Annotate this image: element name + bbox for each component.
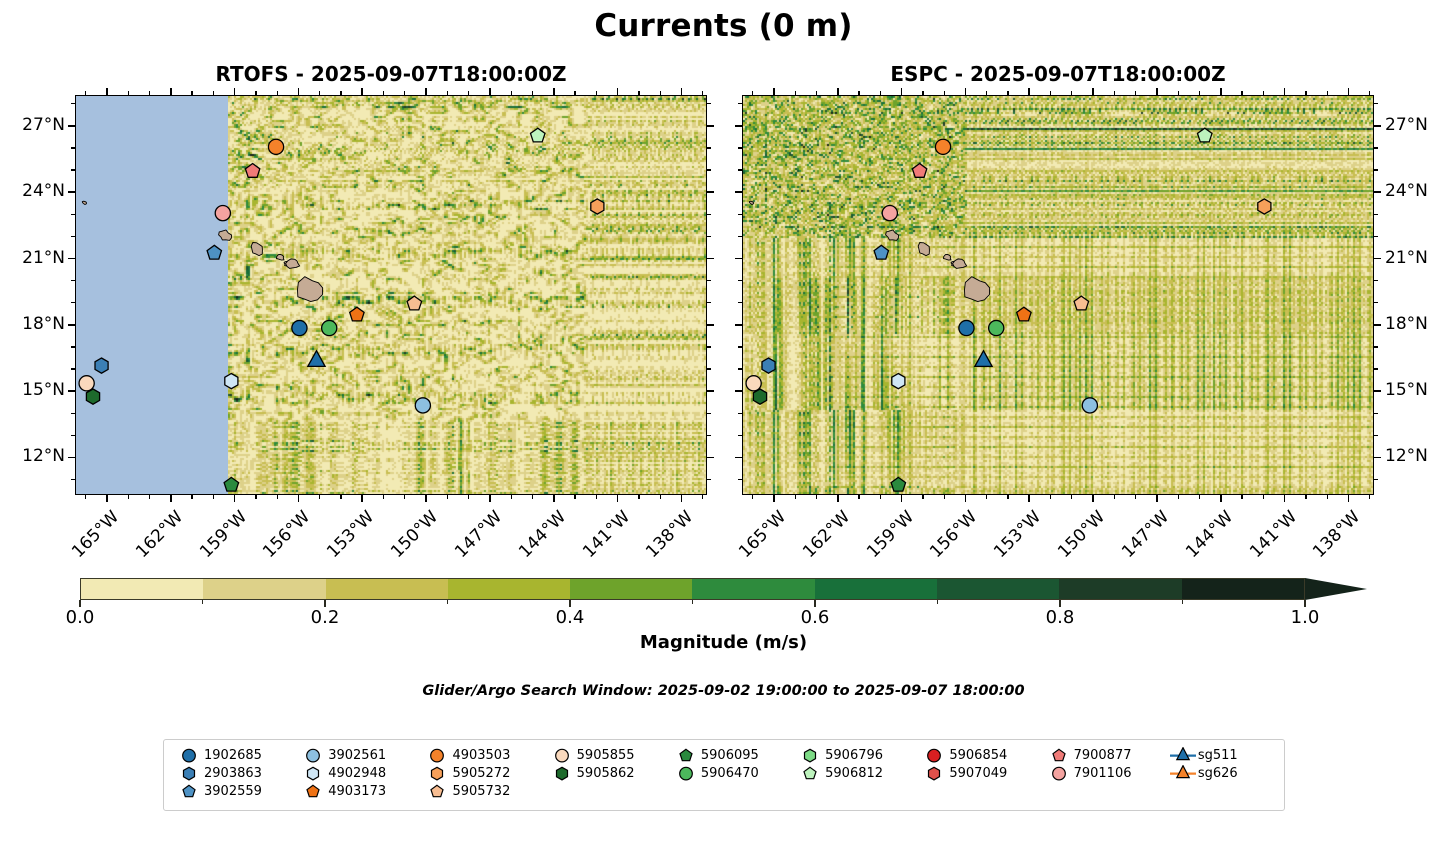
ytick-label: 24°N (1385, 181, 1447, 201)
triangle-line-marker-icon (1168, 765, 1198, 782)
xtick-minor (255, 495, 256, 499)
legend-item-4903503[interactable]: 4903503 (422, 747, 546, 764)
xtick-minor (880, 495, 881, 499)
marker-4902948[interactable] (225, 374, 238, 389)
xtick-minor (85, 91, 86, 95)
xtick-minor (128, 91, 129, 95)
ytick-label: 21°N (1385, 248, 1447, 268)
legend-label: 4902948 (328, 766, 386, 781)
xtick-minor (1305, 91, 1306, 95)
marker-7901106[interactable] (215, 206, 230, 221)
ytick-minor (738, 280, 742, 281)
marker-3902561[interactable] (1082, 398, 1097, 413)
legend-marker (1168, 747, 1198, 764)
pentagon-marker-icon (174, 783, 204, 800)
ytick-minor (71, 302, 75, 303)
marker-7901106[interactable] (882, 206, 897, 221)
legend-marker (671, 747, 701, 764)
xtick-minor (383, 495, 384, 499)
colorbar-extend-arrow (1305, 578, 1367, 600)
xtick-major (170, 495, 172, 502)
xtick-label: 144°W (1178, 507, 1237, 566)
ytick-minor (707, 147, 711, 148)
colorbar-band-6 (815, 579, 937, 599)
ytick-label: 12°N (1385, 446, 1447, 466)
ytick-label: 12°N (7, 446, 65, 466)
xtick-minor (340, 91, 341, 95)
circle-marker-icon (671, 765, 701, 782)
colorbar-tick (79, 600, 80, 607)
colorbar-band-5 (692, 579, 814, 599)
colorbar-band-1 (203, 579, 325, 599)
xtick-minor (213, 495, 214, 499)
xtick-minor (1327, 91, 1328, 95)
colorbar-label: Magnitude (m/s) (80, 632, 1367, 653)
legend-marker (174, 747, 204, 764)
xtick-major (1348, 495, 1350, 502)
xtick-major (1028, 495, 1030, 502)
xtick-label: 144°W (511, 507, 570, 566)
colorbar-tick-label: 1.0 (1291, 607, 1320, 628)
xtick-minor (795, 91, 796, 95)
xtick-label: 165°W (731, 507, 790, 566)
xtick-label: 159°W (858, 507, 917, 566)
xtick-label: 141°W (574, 507, 633, 566)
marker-sg511[interactable] (975, 351, 992, 367)
xtick-minor (532, 495, 533, 499)
xtick-minor (191, 91, 192, 95)
xtick-major (234, 495, 236, 502)
marker-5905272[interactable] (591, 199, 604, 214)
xtick-minor (702, 91, 703, 95)
legend-item-5905862[interactable]: 5905862 (547, 765, 671, 782)
ytick-minor (1374, 479, 1378, 480)
legend-marker (422, 783, 452, 800)
legend-marker (174, 783, 204, 800)
xtick-minor (149, 91, 150, 95)
marker-4903503[interactable] (268, 139, 283, 154)
marker-4902948[interactable] (892, 374, 905, 389)
xtick-minor (1007, 495, 1008, 499)
ytick-minor (1374, 147, 1378, 148)
xtick-major (298, 88, 300, 95)
xtick-major (298, 495, 300, 502)
ytick-label: 18°N (1385, 314, 1447, 334)
colorbar-band-8 (1059, 579, 1181, 599)
xtick-major (773, 88, 775, 95)
colorbar-tick (814, 600, 815, 607)
ytick-minor (1374, 280, 1378, 281)
marker-2903863[interactable] (95, 358, 108, 373)
legend-label: 3902561 (328, 748, 386, 763)
ytick-minor (71, 368, 75, 369)
legend-item-5906095[interactable]: 5906095 (671, 747, 795, 764)
legend-item-5905855[interactable]: 5905855 (547, 747, 671, 764)
ytick-minor (707, 236, 711, 237)
colorbar-band-2 (326, 579, 448, 599)
xtick-label: 156°W (255, 507, 314, 566)
legend-marker (671, 765, 701, 782)
marker-1902685[interactable] (292, 320, 307, 335)
xtick-minor (858, 91, 859, 95)
ytick-minor (71, 236, 75, 237)
xtick-minor (1369, 91, 1370, 95)
xtick-label: 150°W (1050, 507, 1109, 566)
map-panel-rtofs[interactable] (75, 95, 707, 495)
circle-marker-icon (547, 747, 577, 764)
colorbar-band-9 (1182, 579, 1304, 599)
ytick-major (68, 390, 75, 392)
ytick-major (707, 390, 714, 392)
ytick-minor (707, 346, 711, 347)
marker-5905732[interactable] (1074, 296, 1089, 310)
marker-3902559[interactable] (874, 245, 888, 259)
legend-marker (422, 747, 452, 764)
legend-item-5907049[interactable]: 5907049 (919, 765, 1043, 782)
ytick-major (1374, 258, 1381, 260)
hexagon-marker-icon (174, 765, 204, 782)
ytick-major (68, 258, 75, 260)
legend[interactable]: 1902685290386339025593902561490294849031… (163, 739, 1285, 811)
xtick-label: 150°W (383, 507, 442, 566)
xtick-major (773, 495, 775, 502)
triangle-line-marker-icon (1168, 747, 1198, 764)
ytick-minor (707, 413, 711, 414)
map-panel-espc[interactable] (742, 95, 1374, 495)
xtick-minor (277, 495, 278, 499)
legend-label: 5906470 (701, 766, 759, 781)
legend-label: 5907049 (949, 766, 1007, 781)
xtick-major (425, 495, 427, 502)
colorbar-tick-label: 0.4 (556, 607, 585, 628)
marker-7900877[interactable] (245, 164, 259, 178)
ytick-major (707, 324, 714, 326)
xtick-label: 138°W (1305, 507, 1364, 566)
legend-label: 7901106 (1074, 766, 1132, 781)
legend-marker (174, 765, 204, 782)
ytick-minor (738, 302, 742, 303)
marker-5905855[interactable] (746, 376, 761, 391)
xtick-minor (1071, 91, 1072, 95)
xtick-major (1156, 495, 1158, 502)
ytick-minor (1374, 236, 1378, 237)
legend-item-sg626[interactable]: sg626 (1168, 765, 1274, 782)
marker-5905855[interactable] (79, 376, 94, 391)
legend-marker (298, 765, 328, 782)
ytick-minor (707, 368, 711, 369)
ytick-minor (71, 413, 75, 414)
ytick-minor (71, 147, 75, 148)
xtick-minor (1263, 495, 1264, 499)
legend-label: 1902685 (204, 748, 262, 763)
xtick-minor (574, 91, 575, 95)
xtick-minor (1071, 495, 1072, 499)
xtick-minor (1114, 91, 1115, 95)
xtick-minor (532, 91, 533, 95)
xtick-minor (1050, 91, 1051, 95)
xtick-major (1284, 88, 1286, 95)
legend-label: 5906796 (825, 748, 883, 763)
legend-marker (422, 765, 452, 782)
xtick-major (681, 88, 683, 95)
legend-marker (1044, 747, 1074, 764)
xtick-minor (858, 495, 859, 499)
marker-4903173[interactable] (350, 307, 364, 321)
xtick-minor (1178, 495, 1179, 499)
xtick-major (965, 495, 967, 502)
legend-item-5906470[interactable]: 5906470 (671, 765, 795, 782)
xtick-major (425, 88, 427, 95)
legend-item-4903173[interactable]: 4903173 (298, 783, 422, 800)
ytick-major (707, 258, 714, 260)
ytick-minor (707, 169, 711, 170)
legend-marker (547, 747, 577, 764)
xtick-label: 153°W (986, 507, 1045, 566)
ytick-minor (71, 346, 75, 347)
legend-item-2903863[interactable]: 2903863 (174, 765, 298, 782)
xtick-label: 138°W (638, 507, 697, 566)
ytick-minor (71, 435, 75, 436)
xtick-major (681, 495, 683, 502)
xtick-major (361, 88, 363, 95)
hexagon-marker-icon (547, 765, 577, 782)
xtick-minor (752, 495, 753, 499)
xtick-minor (447, 495, 448, 499)
xtick-minor (319, 495, 320, 499)
legend-label: 5905732 (452, 784, 510, 799)
xtick-label: 141°W (1241, 507, 1300, 566)
platform-markers[interactable] (743, 96, 1374, 495)
colorbar-tick (1059, 600, 1060, 607)
xtick-major (489, 88, 491, 95)
legend-item-1902685[interactable]: 1902685 (174, 747, 298, 764)
legend-marker (919, 765, 949, 782)
legend-label: 5905862 (577, 766, 635, 781)
legend-marker (795, 747, 825, 764)
marker-5906095[interactable] (891, 477, 906, 491)
legend-item-5906796[interactable]: 5906796 (795, 747, 919, 764)
xtick-minor (944, 495, 945, 499)
marker-5906470[interactable] (989, 320, 1004, 335)
marker-5906812[interactable] (531, 128, 546, 142)
ytick-major (735, 324, 742, 326)
legend-item-3902559[interactable]: 3902559 (174, 783, 298, 800)
legend-item-3902561[interactable]: 3902561 (298, 747, 422, 764)
xtick-major (837, 88, 839, 95)
xtick-minor (468, 495, 469, 499)
xtick-major (1092, 495, 1094, 502)
marker-4903503[interactable] (935, 139, 950, 154)
xtick-major (617, 88, 619, 95)
legend-label: 4903503 (452, 748, 510, 763)
ytick-minor (1374, 368, 1378, 369)
ytick-label: 18°N (7, 314, 65, 334)
legend-marker (919, 747, 949, 764)
legend-label: 4903173 (328, 784, 386, 799)
xtick-minor (816, 91, 817, 95)
colorbar-band-0 (81, 579, 203, 599)
legend-label: sg626 (1198, 766, 1238, 781)
marker-3902559[interactable] (207, 245, 221, 259)
xtick-minor (1241, 495, 1242, 499)
colorbar-bands (80, 578, 1305, 600)
marker-7900877[interactable] (912, 164, 926, 178)
xtick-minor (1327, 495, 1328, 499)
hexagon-marker-icon (298, 765, 328, 782)
colorbar-tick-minor (937, 600, 938, 604)
legend-item-5905272[interactable]: 5905272 (422, 765, 546, 782)
xtick-major (1092, 88, 1094, 95)
xtick-minor (213, 91, 214, 95)
ytick-minor (738, 413, 742, 414)
platform-markers[interactable] (76, 96, 707, 495)
ytick-major (68, 191, 75, 193)
ytick-minor (707, 302, 711, 303)
legend-marker (298, 747, 328, 764)
xtick-minor (255, 91, 256, 95)
ytick-minor (738, 346, 742, 347)
ytick-minor (738, 435, 742, 436)
legend-label: 7900877 (1074, 748, 1132, 763)
ytick-minor (707, 435, 711, 436)
ytick-minor (1374, 103, 1378, 104)
colorbar-tick-label: 0.2 (311, 607, 340, 628)
ytick-major (1374, 457, 1381, 459)
xtick-major (617, 495, 619, 502)
colorbar-ticks: 0.00.20.40.60.81.0 (80, 600, 1370, 630)
xtick-minor (340, 495, 341, 499)
legend-item-4902948[interactable]: 4902948 (298, 765, 422, 782)
xtick-minor (1178, 91, 1179, 95)
xtick-minor (404, 91, 405, 95)
legend-item-5906812[interactable]: 5906812 (795, 765, 919, 782)
xtick-minor (191, 495, 192, 499)
colorbar-tick-label: 0.0 (66, 607, 95, 628)
marker-3902561[interactable] (415, 398, 430, 413)
legend-item-5906854[interactable]: 5906854 (919, 747, 1043, 764)
ytick-minor (738, 103, 742, 104)
colorbar-tick-label: 0.6 (801, 607, 830, 628)
xtick-minor (944, 91, 945, 95)
xtick-major (837, 495, 839, 502)
ytick-minor (1374, 169, 1378, 170)
xtick-minor (128, 495, 129, 499)
ytick-minor (1374, 346, 1378, 347)
marker-5906812[interactable] (1198, 128, 1213, 142)
xtick-minor (752, 91, 753, 95)
xtick-major (170, 88, 172, 95)
xtick-major (901, 495, 903, 502)
xtick-major (901, 88, 903, 95)
pentagon-marker-icon (422, 783, 452, 800)
ytick-minor (738, 169, 742, 170)
panel-title-rtofs: RTOFS - 2025-09-07T18:00:00Z (75, 62, 707, 86)
legend-item-7900877[interactable]: 7900877 (1044, 747, 1168, 764)
legend-label: 5905855 (577, 748, 635, 763)
xtick-major (1284, 495, 1286, 502)
ytick-major (735, 457, 742, 459)
xtick-label: 162°W (127, 507, 186, 566)
marker-5906470[interactable] (322, 320, 337, 335)
circle-marker-icon (422, 747, 452, 764)
panel-title-espc: ESPC - 2025-09-07T18:00:00Z (742, 62, 1374, 86)
ytick-major (735, 191, 742, 193)
xtick-major (106, 495, 108, 502)
ytick-major (735, 390, 742, 392)
xtick-major (361, 495, 363, 502)
pentagon-marker-icon (298, 783, 328, 800)
xtick-major (106, 88, 108, 95)
xtick-minor (447, 91, 448, 95)
colorbar-tick-minor (692, 600, 693, 604)
legend-marker (298, 783, 328, 800)
ytick-major (68, 457, 75, 459)
ytick-label: 21°N (7, 248, 65, 268)
xtick-major (1220, 88, 1222, 95)
xtick-minor (1263, 91, 1264, 95)
ytick-minor (707, 479, 711, 480)
colorbar (80, 578, 1370, 600)
marker-sg511[interactable] (308, 351, 325, 367)
circle-marker-icon (1044, 765, 1074, 782)
xtick-minor (1050, 495, 1051, 499)
ytick-minor (1374, 302, 1378, 303)
xtick-major (553, 88, 555, 95)
circle-marker-icon (919, 747, 949, 764)
legend-item-7901106[interactable]: 7901106 (1044, 765, 1168, 782)
marker-5905272[interactable] (1258, 199, 1271, 214)
figure-title: Currents (0 m) (0, 8, 1447, 44)
marker-2903863[interactable] (762, 358, 775, 373)
xtick-minor (922, 495, 923, 499)
marker-5905732[interactable] (407, 296, 422, 310)
marker-1902685[interactable] (959, 320, 974, 335)
marker-4903173[interactable] (1017, 307, 1031, 321)
xtick-minor (1305, 495, 1306, 499)
xtick-minor (574, 495, 575, 499)
marker-5905862[interactable] (86, 389, 99, 404)
legend-label: 5906095 (701, 748, 759, 763)
ytick-major (735, 258, 742, 260)
ytick-major (735, 125, 742, 127)
xtick-minor (1135, 495, 1136, 499)
xtick-major (965, 88, 967, 95)
marker-5905862[interactable] (753, 389, 766, 404)
legend-item-sg511[interactable]: sg511 (1168, 747, 1274, 764)
legend-item-5905732[interactable]: 5905732 (422, 783, 546, 800)
ytick-minor (707, 214, 711, 215)
colorbar-tick (1304, 600, 1305, 607)
xtick-label: 165°W (64, 507, 123, 566)
legend-grid: 1902685290386339025593902561490294849031… (174, 747, 1274, 800)
ytick-minor (738, 236, 742, 237)
ytick-major (1374, 324, 1381, 326)
xtick-minor (1241, 91, 1242, 95)
pentagon-marker-icon (671, 747, 701, 764)
marker-5906095[interactable] (224, 477, 239, 491)
xtick-major (1156, 88, 1158, 95)
ytick-major (68, 324, 75, 326)
xtick-minor (1114, 495, 1115, 499)
xtick-label: 159°W (191, 507, 250, 566)
xtick-major (553, 495, 555, 502)
xtick-minor (85, 495, 86, 499)
xtick-major (1348, 88, 1350, 95)
xtick-minor (986, 495, 987, 499)
xtick-minor (1369, 495, 1370, 499)
xtick-minor (149, 495, 150, 499)
xtick-minor (319, 91, 320, 95)
